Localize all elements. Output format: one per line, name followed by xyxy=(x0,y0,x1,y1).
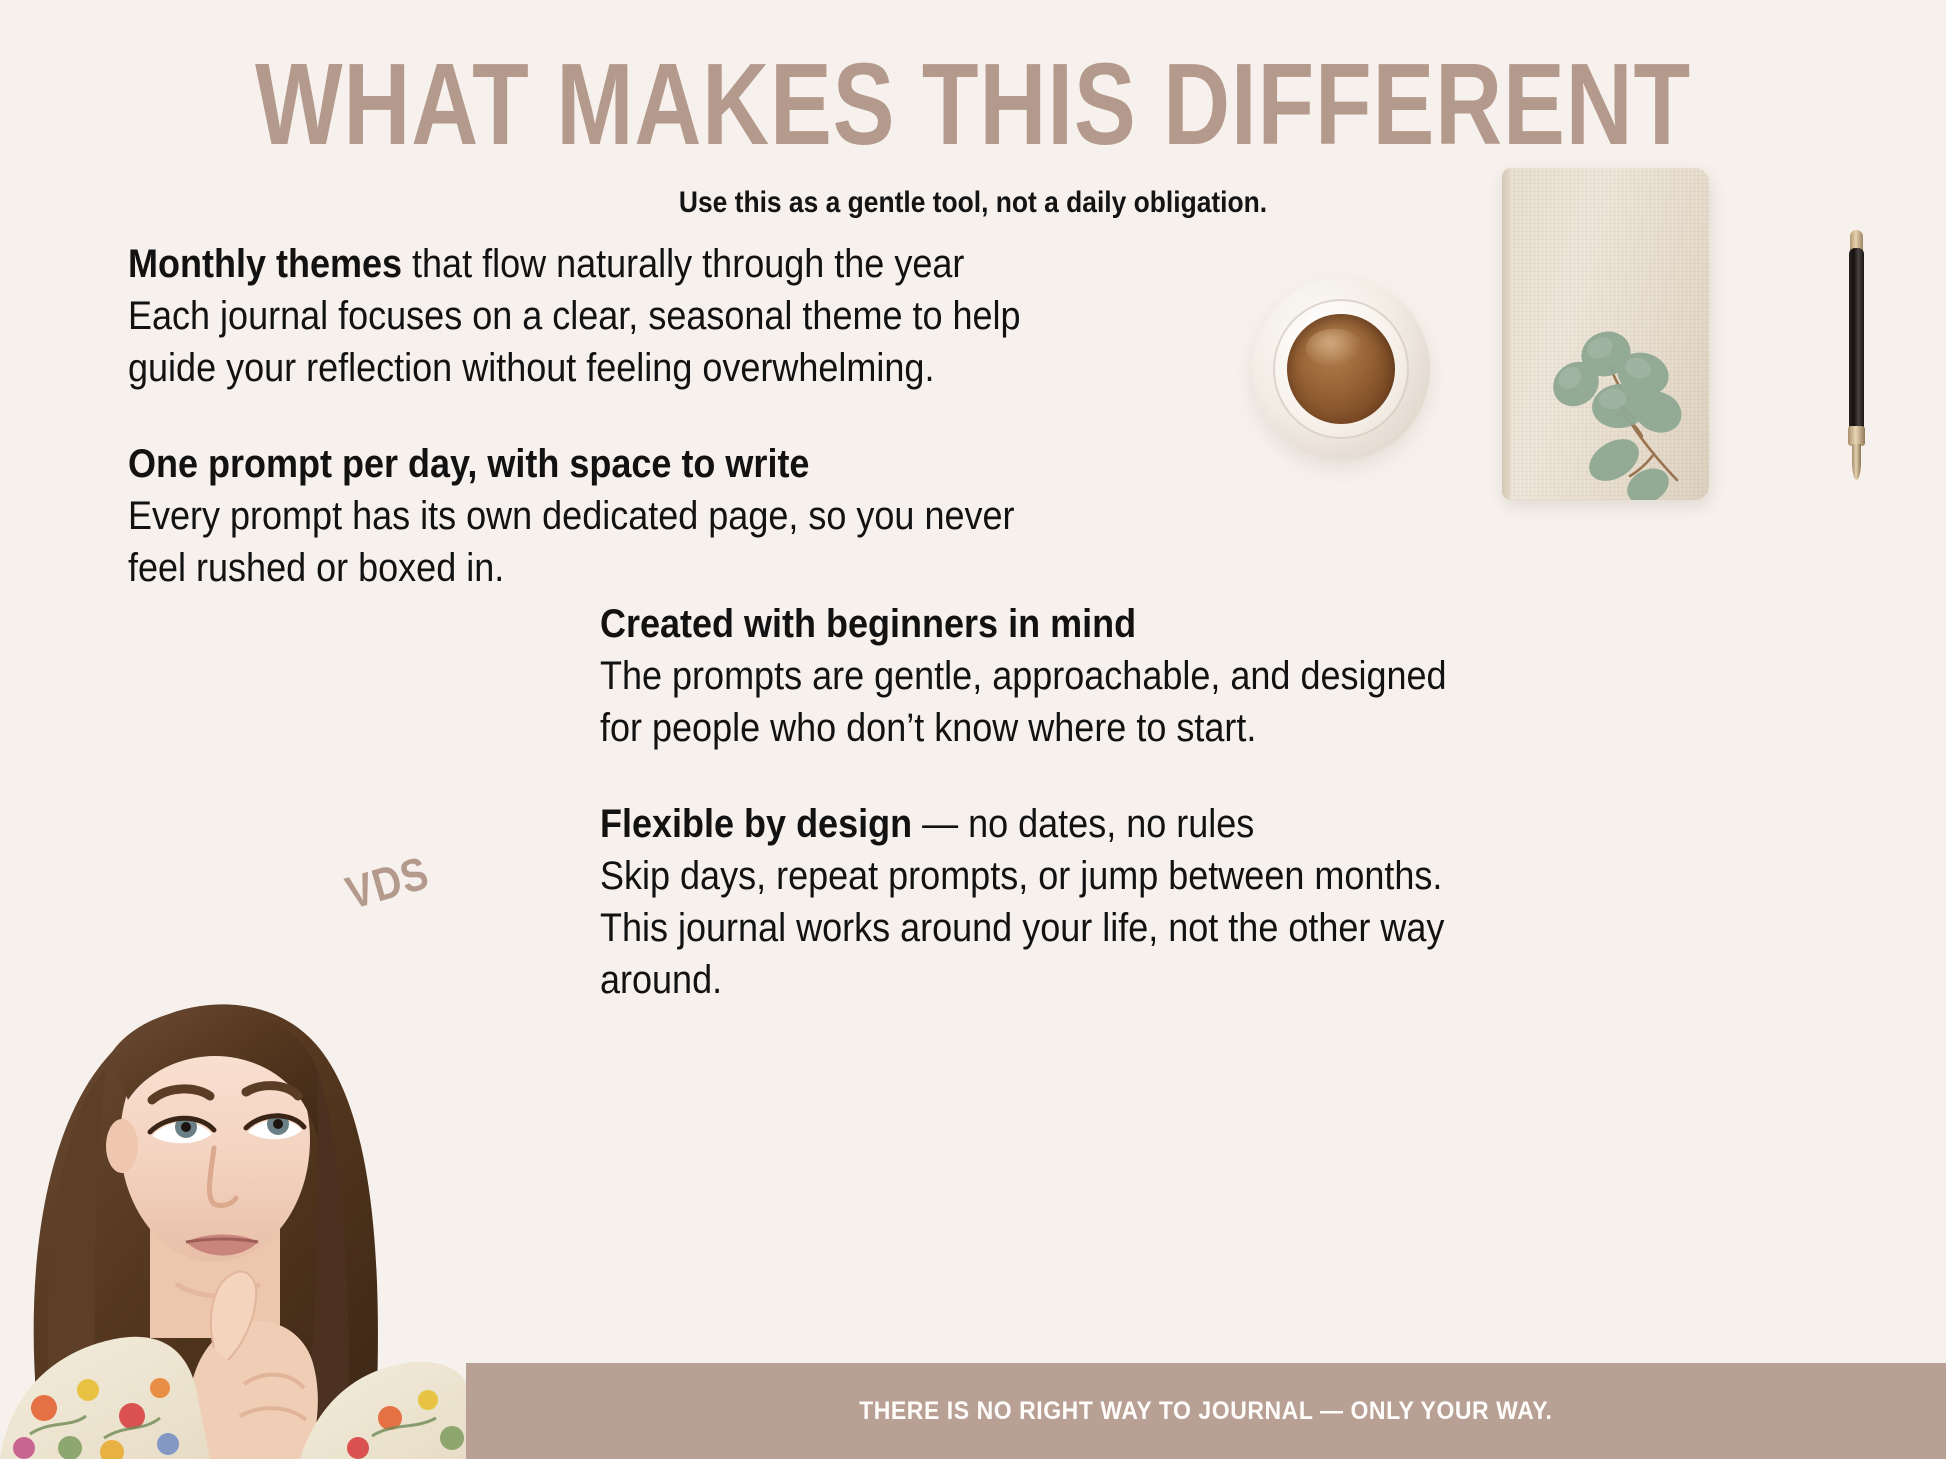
coffee-cup-icon xyxy=(1273,299,1409,439)
feature-body: The prompts are gentle, approachable, an… xyxy=(600,650,1491,754)
feature-lead: One prompt per day, with space to write xyxy=(128,442,809,486)
pen-barrel xyxy=(1849,248,1864,446)
feature-block-flexible-by-design: Flexible by design — no dates, no rules … xyxy=(600,798,1491,1006)
feature-text: Monthly themes that flow naturally throu… xyxy=(128,238,1037,290)
feature-body: Each journal focuses on a clear, seasona… xyxy=(128,290,1037,394)
pen-icon xyxy=(1848,230,1865,480)
feature-text: Flexible by design — no dates, no rules xyxy=(600,798,1491,850)
feature-lead: Monthly themes xyxy=(128,242,402,286)
feature-lead-tail: that flow naturally through the year xyxy=(402,242,964,286)
slide-canvas: WHAT MAKES THIS DIFFERENT Use this as a … xyxy=(0,0,1946,1459)
feature-body: Every prompt has its own dedicated page,… xyxy=(128,490,1037,594)
feature-block-one-prompt-per-day: One prompt per day, with space to write … xyxy=(128,438,1037,594)
feature-lead: Flexible by design xyxy=(600,802,912,846)
pen-ring xyxy=(1848,426,1865,446)
feature-text: One prompt per day, with space to write xyxy=(128,438,1037,490)
flat-lay-photo xyxy=(1240,160,1940,505)
eucalyptus-sprig-icon xyxy=(1502,168,1709,500)
page-title: WHAT MAKES THIS DIFFERENT xyxy=(195,46,1752,162)
feature-block-created-with-beginners-in-mind: Created with beginners in mind The promp… xyxy=(600,598,1491,754)
feature-text: Created with beginners in mind xyxy=(600,598,1491,650)
pen-tip xyxy=(1852,444,1861,480)
coffee-liquid xyxy=(1287,314,1395,424)
feature-lead: Created with beginners in mind xyxy=(600,602,1136,646)
feature-body: Skip days, repeat prompts, or jump betwe… xyxy=(600,850,1491,1006)
thoughtful-woman-photo xyxy=(0,648,470,1459)
feature-block-monthly-themes: Monthly themes that flow naturally throu… xyxy=(128,238,1037,394)
footer-banner: THERE IS NO RIGHT WAY TO JOURNAL — ONLY … xyxy=(466,1363,1946,1459)
footer-tagline: THERE IS NO RIGHT WAY TO JOURNAL — ONLY … xyxy=(859,1397,1552,1426)
feature-lead-tail: — no dates, no rules xyxy=(912,802,1254,846)
